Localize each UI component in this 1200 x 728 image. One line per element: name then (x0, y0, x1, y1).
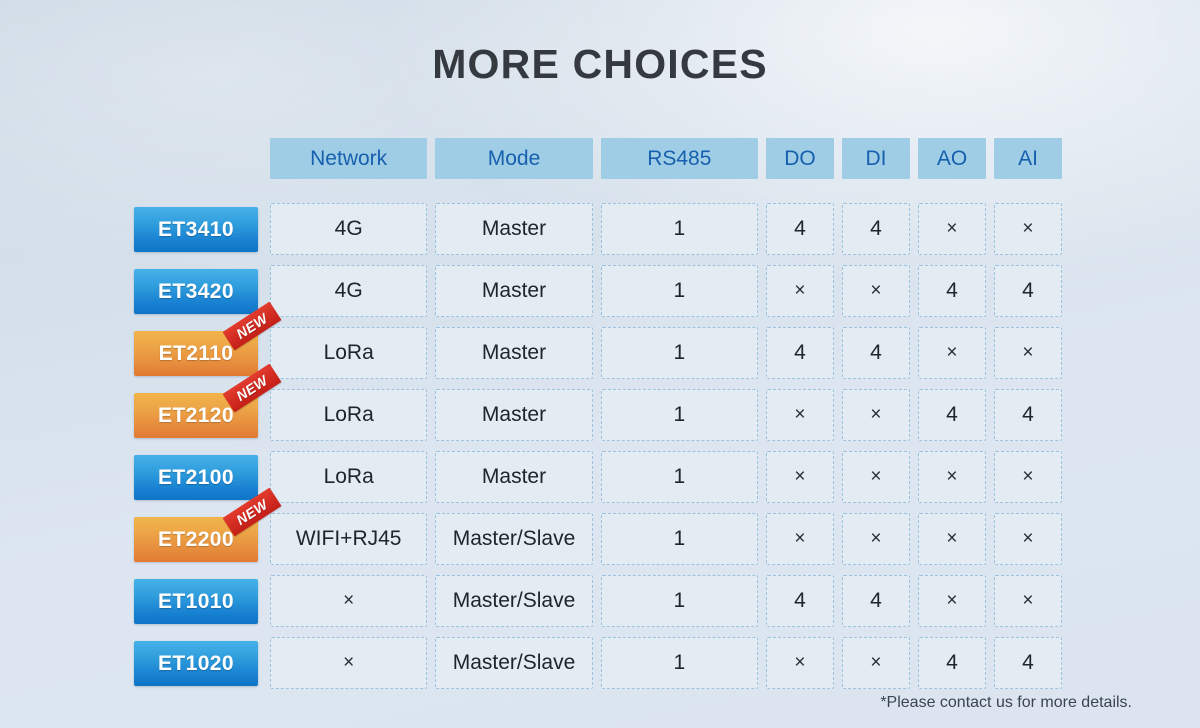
product-label-cell: ET1010 (134, 579, 266, 624)
header-cell-ao: AO (914, 138, 990, 179)
cell-wrap-ao: 4 (914, 265, 990, 317)
cell-wrap-mode: Master (431, 327, 596, 379)
cell-wrap-di: × (838, 513, 914, 565)
products-comparison-table: Network Mode RS485 DO DI AO AI ET34104GM… (134, 136, 1066, 694)
cell-do: 4 (766, 327, 834, 379)
cell-wrap-rs485: 1 (597, 203, 762, 255)
cell-wrap-di: × (838, 389, 914, 441)
cell-network: WIFI+RJ45 (270, 513, 427, 565)
cell-di: × (842, 389, 910, 441)
cell-do: 4 (766, 203, 834, 255)
cell-wrap-network: 4G (266, 265, 431, 317)
cell-mode: Master/Slave (435, 575, 592, 627)
cell-wrap-ai: × (990, 451, 1066, 503)
cell-wrap-di: × (838, 451, 914, 503)
cell-wrap-rs485: 1 (597, 327, 762, 379)
cell-wrap-do: × (762, 637, 838, 689)
header-cell-ai: AI (990, 138, 1066, 179)
table-row: ET2120NEWLoRaMaster1××44 (134, 384, 1066, 446)
cell-mode: Master (435, 203, 592, 255)
cell-wrap-ao: × (914, 327, 990, 379)
cell-wrap-network: WIFI+RJ45 (266, 513, 431, 565)
cell-wrap-ao: × (914, 513, 990, 565)
header-label-mode: Mode (435, 138, 592, 179)
header-cell-network: Network (266, 138, 431, 179)
cell-mode: Master/Slave (435, 637, 592, 689)
cell-ai: × (994, 451, 1062, 503)
product-label-cell: ET2100 (134, 455, 266, 500)
cell-wrap-mode: Master (431, 451, 596, 503)
cell-ao: 4 (918, 637, 986, 689)
cell-wrap-network: × (266, 575, 431, 627)
cell-wrap-di: 4 (838, 575, 914, 627)
product-button-et1010[interactable]: ET1010 (134, 579, 258, 624)
cell-mode: Master (435, 451, 592, 503)
product-button-et3410[interactable]: ET3410 (134, 207, 258, 252)
cell-di: 4 (842, 327, 910, 379)
cell-wrap-ao: 4 (914, 389, 990, 441)
cell-ao: × (918, 203, 986, 255)
page-title: MORE CHOICES (0, 41, 1200, 88)
cell-wrap-do: × (762, 265, 838, 317)
header-label-di: DI (842, 138, 910, 179)
cell-wrap-network: LoRa (266, 451, 431, 503)
cell-wrap-network: LoRa (266, 389, 431, 441)
header-cell-di: DI (838, 138, 914, 179)
footnote-text: *Please contact us for more details. (880, 694, 1132, 712)
product-button-et2120[interactable]: ET2120NEW (134, 393, 258, 438)
cell-wrap-rs485: 1 (597, 637, 762, 689)
product-label-cell: ET3420 (134, 269, 266, 314)
cell-wrap-network: × (266, 637, 431, 689)
header-label-network: Network (270, 138, 427, 179)
table-body: ET34104GMaster144××ET34204GMaster1××44ET… (134, 198, 1066, 694)
cell-wrap-do: 4 (762, 575, 838, 627)
product-button-et3420[interactable]: ET3420 (134, 269, 258, 314)
cell-wrap-ai: × (990, 203, 1066, 255)
product-button-et2100[interactable]: ET2100 (134, 455, 258, 500)
cell-ai: × (994, 327, 1062, 379)
cell-wrap-ai: 4 (990, 637, 1066, 689)
product-label-cell: ET2110NEW (134, 331, 266, 376)
cell-wrap-mode: Master/Slave (431, 513, 596, 565)
header-cell-mode: Mode (431, 138, 596, 179)
cell-network: LoRa (270, 451, 427, 503)
table-row: ET1010×Master/Slave144×× (134, 570, 1066, 632)
header-label-ao: AO (918, 138, 986, 179)
cell-wrap-rs485: 1 (597, 265, 762, 317)
table-row: ET1020×Master/Slave1××44 (134, 632, 1066, 694)
product-button-et2110[interactable]: ET2110NEW (134, 331, 258, 376)
cell-ai: 4 (994, 637, 1062, 689)
cell-wrap-rs485: 1 (597, 513, 762, 565)
cell-do: × (766, 451, 834, 503)
cell-network: × (270, 637, 427, 689)
cell-wrap-do: 4 (762, 327, 838, 379)
cell-wrap-ai: 4 (990, 265, 1066, 317)
cell-wrap-mode: Master/Slave (431, 637, 596, 689)
cell-di: × (842, 265, 910, 317)
cell-di: 4 (842, 203, 910, 255)
product-label-cell: ET2120NEW (134, 393, 266, 438)
cell-rs485: 1 (601, 203, 758, 255)
cell-wrap-ao: × (914, 451, 990, 503)
header-label-rs485: RS485 (601, 138, 758, 179)
cell-wrap-do: × (762, 513, 838, 565)
cell-di: 4 (842, 575, 910, 627)
cell-ao: × (918, 327, 986, 379)
table-row: ET2200NEWWIFI+RJ45Master/Slave1×××× (134, 508, 1066, 570)
table-row: ET34104GMaster144×× (134, 198, 1066, 260)
table-header-row: Network Mode RS485 DO DI AO AI (134, 136, 1066, 180)
cell-network: LoRa (270, 327, 427, 379)
cell-mode: Master (435, 327, 592, 379)
cell-wrap-rs485: 1 (597, 389, 762, 441)
cell-do: × (766, 389, 834, 441)
cell-wrap-di: × (838, 265, 914, 317)
cell-wrap-mode: Master (431, 203, 596, 255)
cell-wrap-ai: × (990, 513, 1066, 565)
cell-rs485: 1 (601, 451, 758, 503)
header-cell-rs485: RS485 (597, 138, 762, 179)
cell-wrap-ao: × (914, 575, 990, 627)
cell-network: × (270, 575, 427, 627)
product-label-cell: ET1020 (134, 641, 266, 686)
comparison-table-page: MORE CHOICES Network Mode RS485 DO DI AO (0, 0, 1200, 728)
cell-wrap-do: × (762, 389, 838, 441)
cell-di: × (842, 637, 910, 689)
cell-di: × (842, 451, 910, 503)
cell-wrap-ao: × (914, 203, 990, 255)
cell-wrap-do: 4 (762, 203, 838, 255)
cell-wrap-rs485: 1 (597, 575, 762, 627)
cell-wrap-ai: 4 (990, 389, 1066, 441)
cell-mode: Master (435, 389, 592, 441)
cell-rs485: 1 (601, 265, 758, 317)
cell-wrap-mode: Master/Slave (431, 575, 596, 627)
cell-ai: × (994, 575, 1062, 627)
cell-rs485: 1 (601, 389, 758, 441)
cell-wrap-ai: × (990, 575, 1066, 627)
cell-rs485: 1 (601, 513, 758, 565)
header-label-do: DO (766, 138, 834, 179)
cell-di: × (842, 513, 910, 565)
product-label-cell: ET3410 (134, 207, 266, 252)
cell-wrap-network: 4G (266, 203, 431, 255)
cell-wrap-di: 4 (838, 327, 914, 379)
cell-ai: 4 (994, 389, 1062, 441)
cell-wrap-rs485: 1 (597, 451, 762, 503)
cell-wrap-di: × (838, 637, 914, 689)
cell-do: 4 (766, 575, 834, 627)
cell-network: 4G (270, 203, 427, 255)
cell-ao: 4 (918, 389, 986, 441)
cell-mode: Master/Slave (435, 513, 592, 565)
cell-do: × (766, 265, 834, 317)
cell-ao: × (918, 513, 986, 565)
cell-mode: Master (435, 265, 592, 317)
cell-wrap-mode: Master (431, 265, 596, 317)
cell-do: × (766, 513, 834, 565)
cell-rs485: 1 (601, 327, 758, 379)
product-label-cell: ET2200NEW (134, 517, 266, 562)
cell-wrap-ai: × (990, 327, 1066, 379)
cell-rs485: 1 (601, 637, 758, 689)
header-label-ai: AI (994, 138, 1062, 179)
cell-ai: 4 (994, 265, 1062, 317)
product-button-et2200[interactable]: ET2200NEW (134, 517, 258, 562)
cell-rs485: 1 (601, 575, 758, 627)
cell-wrap-network: LoRa (266, 327, 431, 379)
cell-wrap-do: × (762, 451, 838, 503)
cell-ai: × (994, 203, 1062, 255)
cell-wrap-mode: Master (431, 389, 596, 441)
cell-ai: × (994, 513, 1062, 565)
cell-network: LoRa (270, 389, 427, 441)
header-cell-do: DO (762, 138, 838, 179)
cell-ao: × (918, 575, 986, 627)
cell-ao: × (918, 451, 986, 503)
cell-do: × (766, 637, 834, 689)
cell-network: 4G (270, 265, 427, 317)
cell-wrap-di: 4 (838, 203, 914, 255)
cell-wrap-ao: 4 (914, 637, 990, 689)
product-button-et1020[interactable]: ET1020 (134, 641, 258, 686)
cell-ao: 4 (918, 265, 986, 317)
